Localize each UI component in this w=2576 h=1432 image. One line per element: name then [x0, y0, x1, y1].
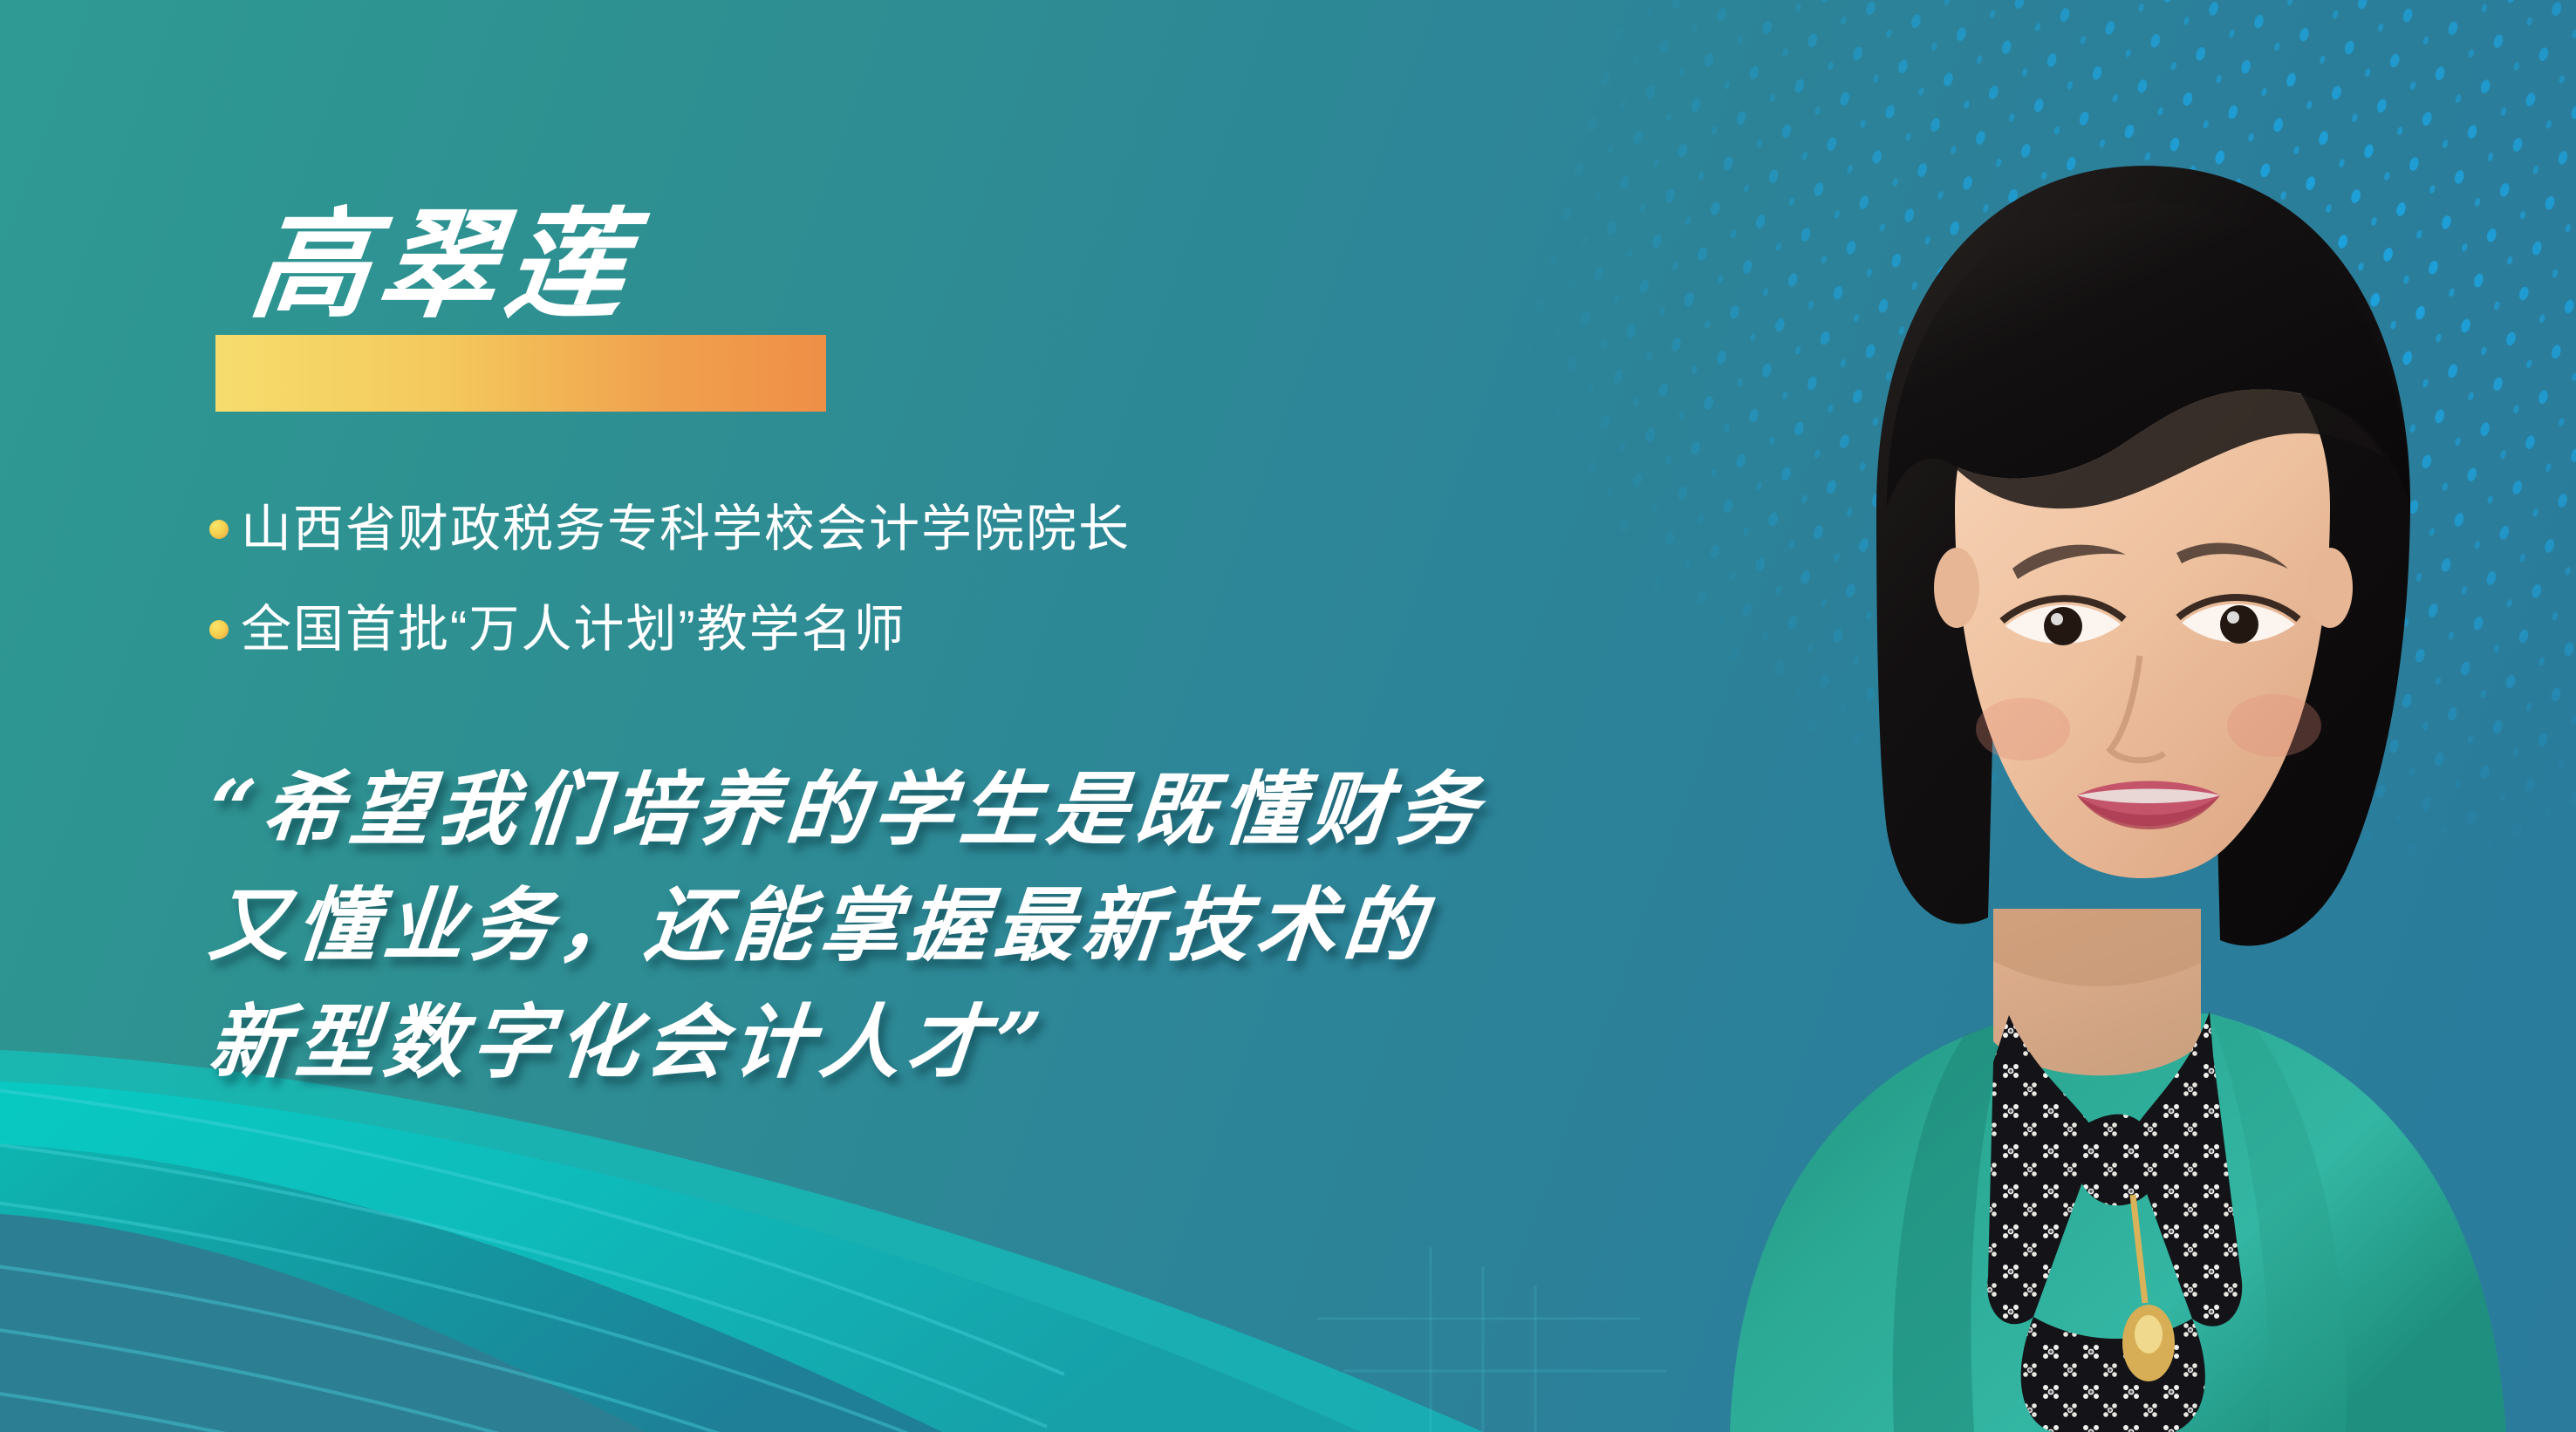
quote-block: “希望我们培养的学生是既懂财务 又懂业务，还能掌握最新技术的 新型数字化会计人才… — [209, 752, 1675, 1101]
credentials-list: 山西省财政税务专科学校会计学院院长 全国首批“万人计划”教学名师 — [209, 499, 1518, 699]
bullet-dot-icon — [209, 520, 229, 539]
name-block: 高翠莲 — [215, 206, 878, 424]
quote-line: “希望我们培养的学生是既懂财务 — [204, 752, 1680, 868]
quote-line: 又懂业务，还能掌握最新技术的 — [204, 868, 1680, 984]
quote-line: 新型数字化会计人才” — [204, 985, 1680, 1101]
bullet-dot-icon — [209, 620, 229, 639]
poster-canvas: 高翠莲 山西省财政税务专科学校会计学院院长 全国首批“万人计划”教学名师 “希望… — [0, 0, 2576, 1432]
list-item: 全国首批“万人计划”教学名师 — [209, 599, 1518, 661]
speaker-name: 高翠莲 — [245, 206, 642, 324]
portrait-photo — [1599, 98, 2576, 1432]
credential-text: 山西省财政税务专科学校会计学院院长 — [241, 499, 1131, 561]
text-content: 高翠莲 山西省财政税务专科学校会计学院院长 全国首批“万人计划”教学名师 “希望… — [0, 0, 1710, 1432]
credential-text: 全国首批“万人计划”教学名师 — [241, 599, 906, 661]
name-highlight-bar — [215, 335, 826, 412]
portrait-illustration — [1599, 98, 2576, 1432]
list-item: 山西省财政税务专科学校会计学院院长 — [209, 499, 1518, 561]
